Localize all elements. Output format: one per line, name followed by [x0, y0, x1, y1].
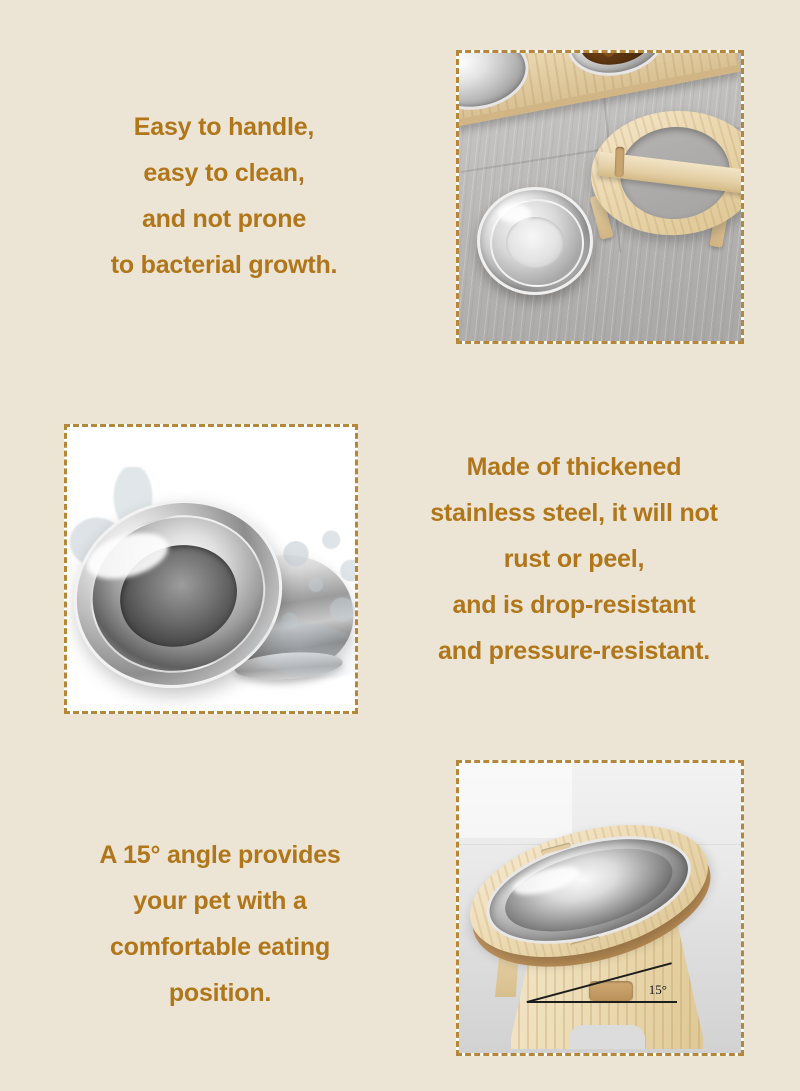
feature-text-line: Easy to handle, — [36, 104, 412, 150]
ring-slot — [615, 147, 625, 177]
feature-text-line: and is drop-resistant — [372, 582, 776, 628]
photo-panel-water-splash — [64, 424, 358, 714]
tilted-bowl-stand: 15° — [465, 823, 741, 1049]
feature-text-easy-handle: Easy to handle, easy to clean, and not p… — [36, 104, 412, 288]
feature-text-stainless-steel: Made of thickened stainless steel, it wi… — [372, 444, 776, 674]
feature-text-line: easy to clean, — [36, 150, 412, 196]
photo-panel-bowls-floor — [456, 50, 744, 344]
bowl-highlight — [498, 204, 531, 222]
feature-text-line: to bacterial growth. — [36, 242, 412, 288]
angle-label: 15° — [649, 982, 667, 998]
feature-text-line: position. — [32, 970, 408, 1016]
feature-text-line: A 15° angle provides — [32, 832, 408, 878]
feature-text-line: rust or peel, — [372, 536, 776, 582]
photo-bowls-floor-image — [459, 53, 741, 341]
angle-annotation: 15° — [527, 975, 677, 1009]
steel-bowl-on-floor — [477, 187, 593, 295]
angle-horizontal-line — [527, 1001, 677, 1003]
feature-text-line: your pet with a — [32, 878, 408, 924]
feature-text-line: Made of thickened — [372, 444, 776, 490]
photo-tilted-stand-image: 15° — [459, 763, 741, 1053]
infographic-page: Easy to handle, easy to clean, and not p… — [0, 0, 800, 1091]
bowl-base — [506, 217, 563, 268]
photo-water-splash-image — [67, 427, 355, 711]
feature-text-angle: A 15° angle provides your pet with a com… — [32, 832, 408, 1016]
wooden-ring-stand — [587, 105, 741, 240]
feature-text-line: and pressure-resistant. — [372, 628, 776, 674]
feature-text-line: and not prone — [36, 196, 412, 242]
photo-panel-tilted-stand: 15° — [456, 760, 744, 1056]
feature-text-line: stainless steel, it will not — [372, 490, 776, 536]
feature-text-line: comfortable eating — [32, 924, 408, 970]
base-notch — [569, 1025, 645, 1051]
